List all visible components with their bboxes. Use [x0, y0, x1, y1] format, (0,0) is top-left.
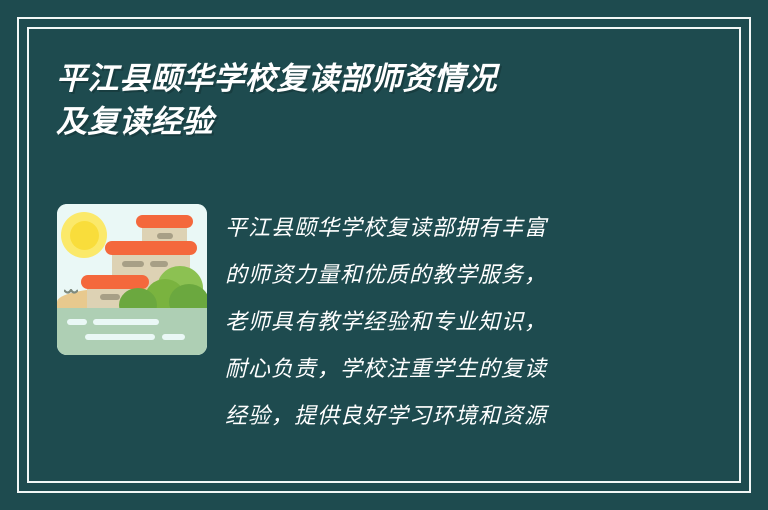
content-row: 平江县颐华学校复读部拥有丰富 的师资力量和优质的教学服务， 老师具有教学经验和专…: [57, 204, 717, 439]
roof-back: [136, 215, 193, 228]
water-ripple: [67, 319, 87, 325]
body-line: 老师具有教学经验和专业知识，: [225, 298, 547, 345]
body-line: 耐心负责，学校注重学生的复读: [225, 345, 547, 392]
body-line: 平江县颐华学校复读部拥有丰富: [225, 204, 547, 251]
water-ripple: [85, 334, 155, 340]
body-paragraph: 平江县颐华学校复读部拥有丰富 的师资力量和优质的教学服务， 老师具有教学经验和专…: [225, 204, 547, 439]
page-title-line-1: 平江县颐华学校复读部师资情况: [56, 57, 716, 100]
window-front: [100, 294, 120, 300]
poster-canvas: 平江县颐华学校复读部师资情况 及复读经验: [0, 0, 768, 510]
school-campus-illustration: [57, 204, 207, 355]
window-middle-right: [150, 261, 168, 267]
page-title: 平江县颐华学校复读部师资情况 及复读经验: [56, 57, 716, 143]
body-line: 的师资力量和优质的教学服务，: [225, 251, 547, 298]
page-title-line-2: 及复读经验: [56, 100, 716, 143]
water-ripple: [93, 319, 159, 325]
body-line: 经验，提供良好学习环境和资源: [225, 392, 547, 439]
bird-icon: [64, 289, 78, 296]
roof-middle: [105, 241, 197, 255]
water-area: [57, 308, 207, 355]
sun-core-icon: [70, 221, 99, 250]
window-back: [157, 233, 173, 239]
water-ripple: [162, 334, 185, 340]
window-middle-left: [122, 261, 144, 267]
roof-front: [81, 275, 149, 289]
